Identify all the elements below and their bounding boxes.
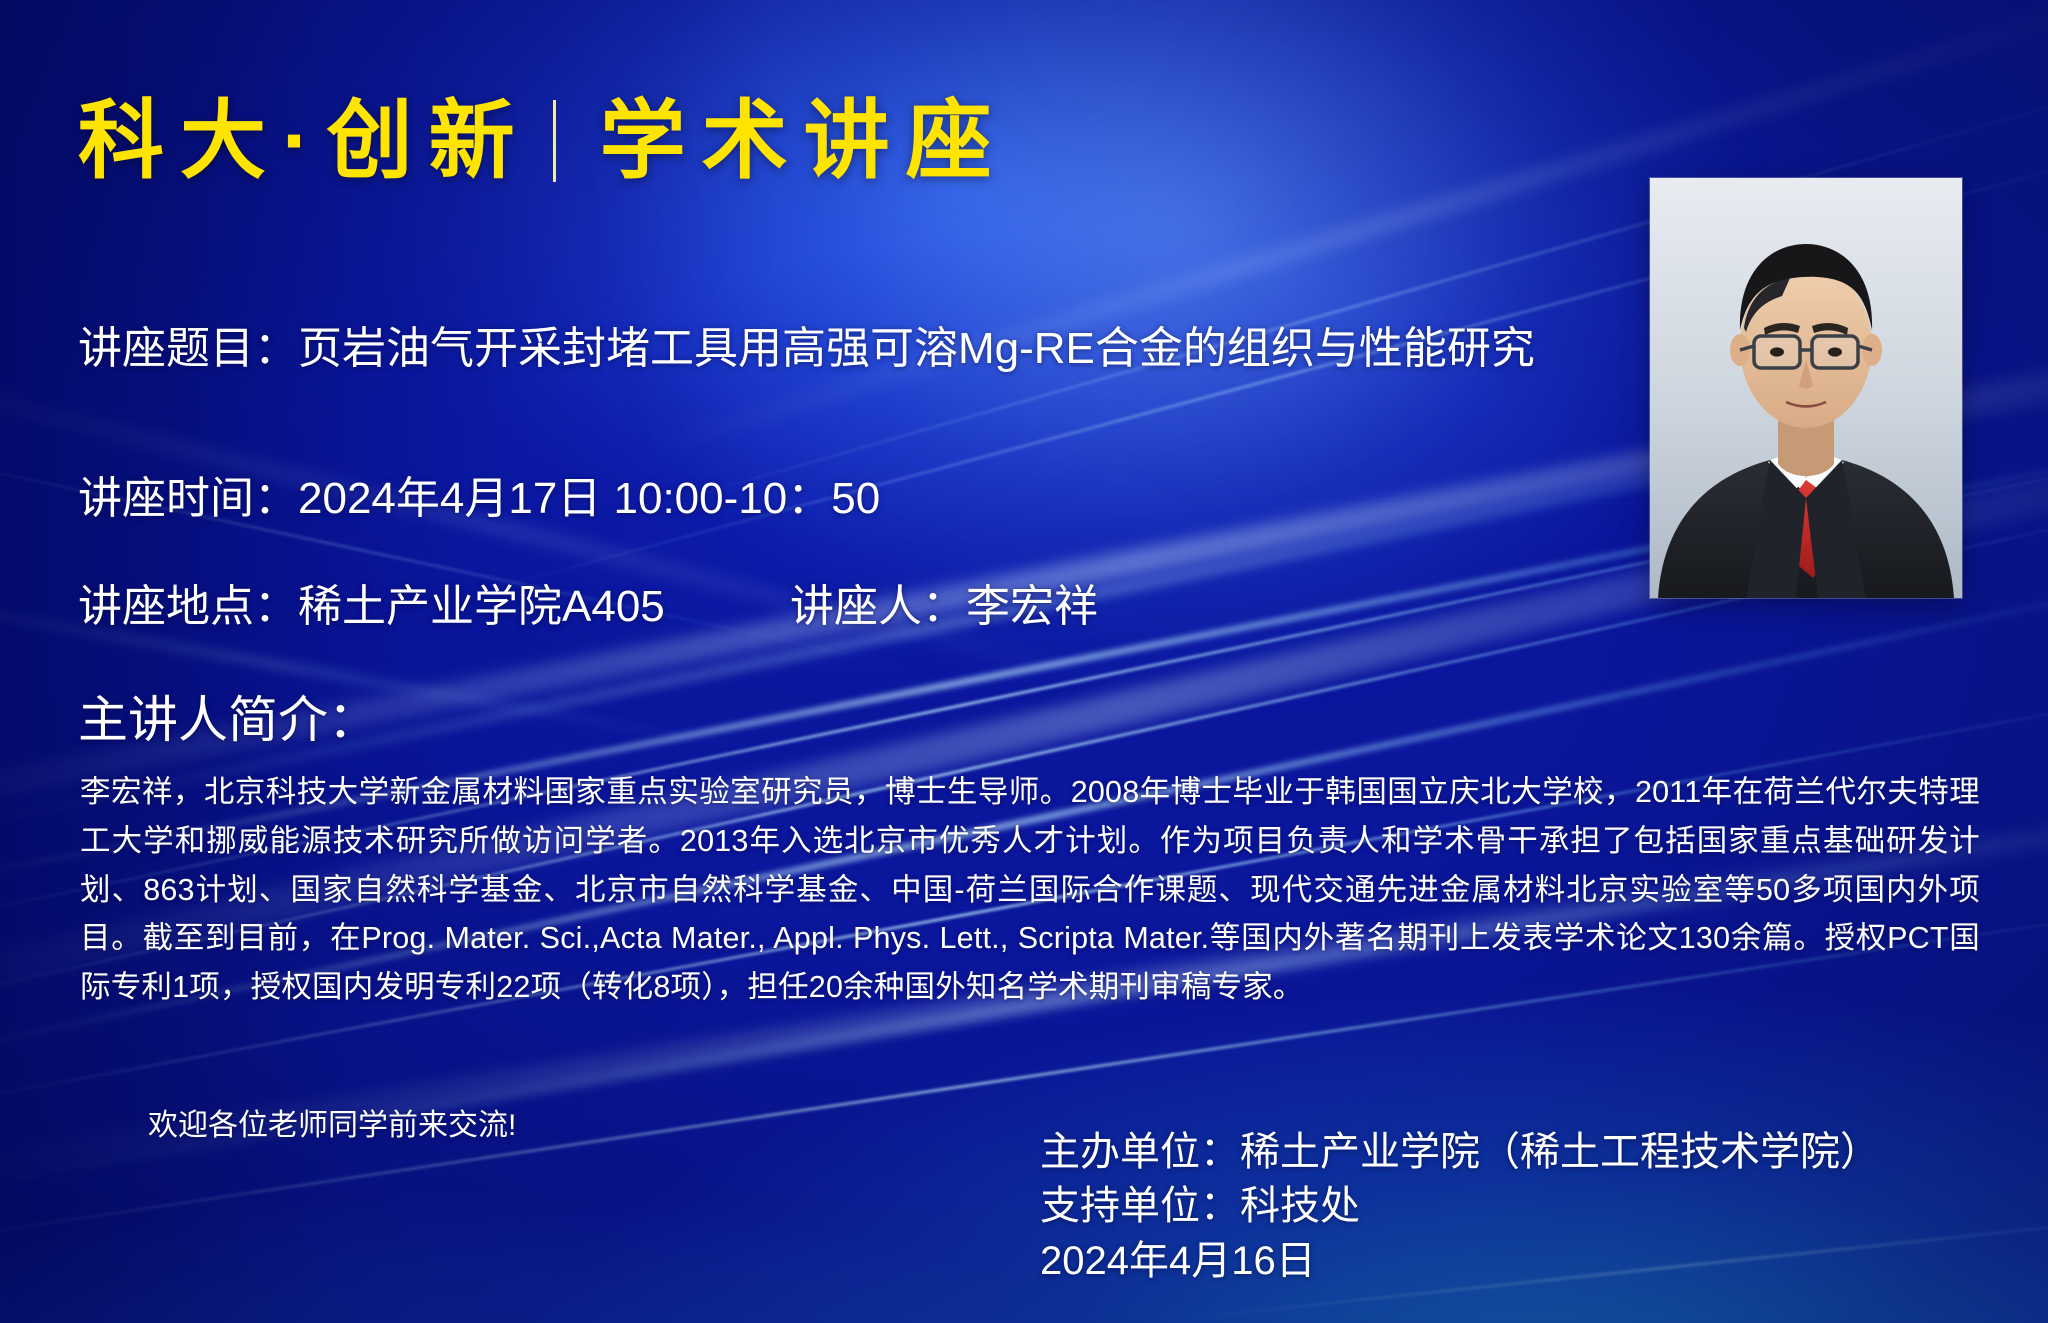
headline-divider <box>553 100 556 182</box>
lecture-time: 讲座时间：2024年4月17日 10:00-10：50 <box>78 462 880 526</box>
organizer-date: 2024年4月16日 <box>1040 1234 1880 1288</box>
lecture-speaker: 讲座人：李宏祥 <box>790 570 1098 634</box>
organizer-host: 主办单位：稀土产业学院（稀土工程技术学院） <box>1040 1125 1880 1179</box>
lecture-topic: 讲座题目：页岩油气开采封堵工具用高强可溶Mg-RE合金的组织与性能研究 <box>78 312 1535 376</box>
headline-left: 科大·创新 <box>78 98 531 184</box>
speaker-biography: 李宏祥，北京科技大学新金属材料国家重点实验室研究员，博士生导师。2008年博士毕… <box>80 768 1980 1012</box>
speaker-portrait <box>1650 178 1962 598</box>
headline-right: 学术讲座 <box>600 98 1008 184</box>
bio-paragraph: 李宏祥，北京科技大学新金属材料国家重点实验室研究员，博士生导师。2008年博士毕… <box>80 768 1980 1012</box>
organizer-support: 支持单位：科技处 <box>1040 1179 1880 1233</box>
organizer-block: 主办单位：稀土产业学院（稀土工程技术学院） 支持单位：科技处 2024年4月16… <box>1040 1125 1880 1288</box>
portrait-illustration <box>1650 178 1962 598</box>
bio-heading: 主讲人简介： <box>78 680 378 752</box>
poster-headline: 科大·创新 学术讲座 <box>78 98 1008 184</box>
welcome-note: 欢迎各位老师同学前来交流! <box>148 1100 516 1144</box>
lecture-place: 讲座地点：稀土产业学院A405 <box>78 570 665 634</box>
lecture-poster: 科大·创新 学术讲座 讲座题目：页岩油气开采封堵工具用高强可溶Mg-RE合金的组… <box>0 0 2048 1323</box>
